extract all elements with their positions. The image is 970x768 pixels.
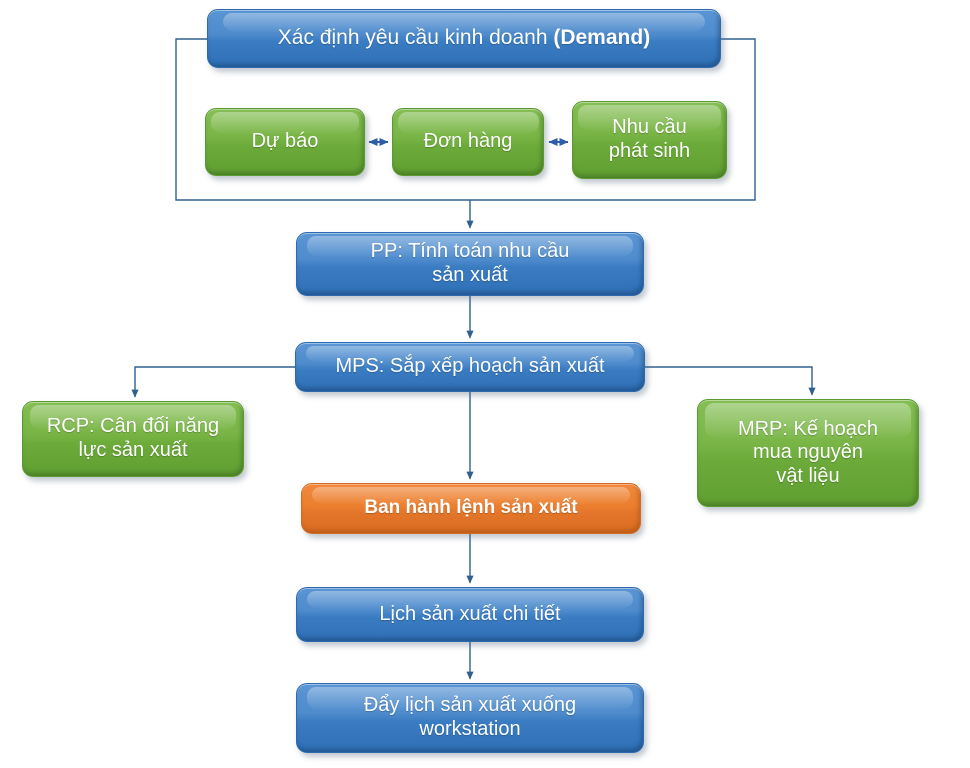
- flowchart-canvas: Xác định yêu cầu kinh doanh (Demand) Dự …: [0, 0, 970, 768]
- node-forecast-label: Dự báo: [216, 130, 354, 154]
- node-pp[interactable]: PP: Tính toán nhu cầu sản xuất: [296, 232, 644, 296]
- node-push-to-workstation-label: Đẩy lịch sản xuất xuống workstation: [307, 694, 633, 741]
- node-adhoc-demand[interactable]: Nhu cầu phát sinh: [572, 101, 727, 179]
- node-order-label: Đơn hàng: [403, 130, 533, 154]
- node-order-issue[interactable]: Ban hành lệnh sản xuất: [301, 483, 641, 534]
- node-rcp[interactable]: RCP: Cân đối năng lực sản xuất: [22, 401, 244, 477]
- node-order[interactable]: Đơn hàng: [392, 108, 544, 176]
- node-forecast[interactable]: Dự báo: [205, 108, 365, 176]
- node-mrp[interactable]: MRP: Kế hoạch mua nguyên vật liệu: [697, 399, 919, 507]
- node-detailed-schedule[interactable]: Lịch sản xuất chi tiết: [296, 587, 644, 642]
- node-demand-text: Xác định yêu cầu kinh doanh: [278, 26, 554, 49]
- connector-mps-to-mrp: [645, 367, 812, 395]
- node-detailed-schedule-label: Lịch sản xuất chi tiết: [307, 603, 633, 627]
- node-rcp-label: RCP: Cân đối năng lực sản xuất: [33, 415, 233, 462]
- node-adhoc-demand-label: Nhu cầu phát sinh: [583, 116, 716, 163]
- node-mps[interactable]: MPS: Sắp xếp hoạch sản xuất: [295, 342, 645, 392]
- connector-mps-to-rcp: [135, 367, 295, 397]
- node-demand[interactable]: Xác định yêu cầu kinh doanh (Demand): [207, 9, 721, 68]
- node-mps-label: MPS: Sắp xếp hoạch sản xuất: [306, 355, 634, 379]
- node-demand-text-bold: (Demand): [553, 26, 650, 49]
- node-mrp-label: MRP: Kế hoạch mua nguyên vật liệu: [708, 418, 908, 489]
- node-push-to-workstation[interactable]: Đẩy lịch sản xuất xuống workstation: [296, 683, 644, 753]
- node-order-issue-label: Ban hành lệnh sản xuất: [312, 497, 630, 519]
- node-demand-label: Xác định yêu cầu kinh doanh (Demand): [218, 26, 710, 51]
- node-pp-label: PP: Tính toán nhu cầu sản xuất: [307, 240, 633, 287]
